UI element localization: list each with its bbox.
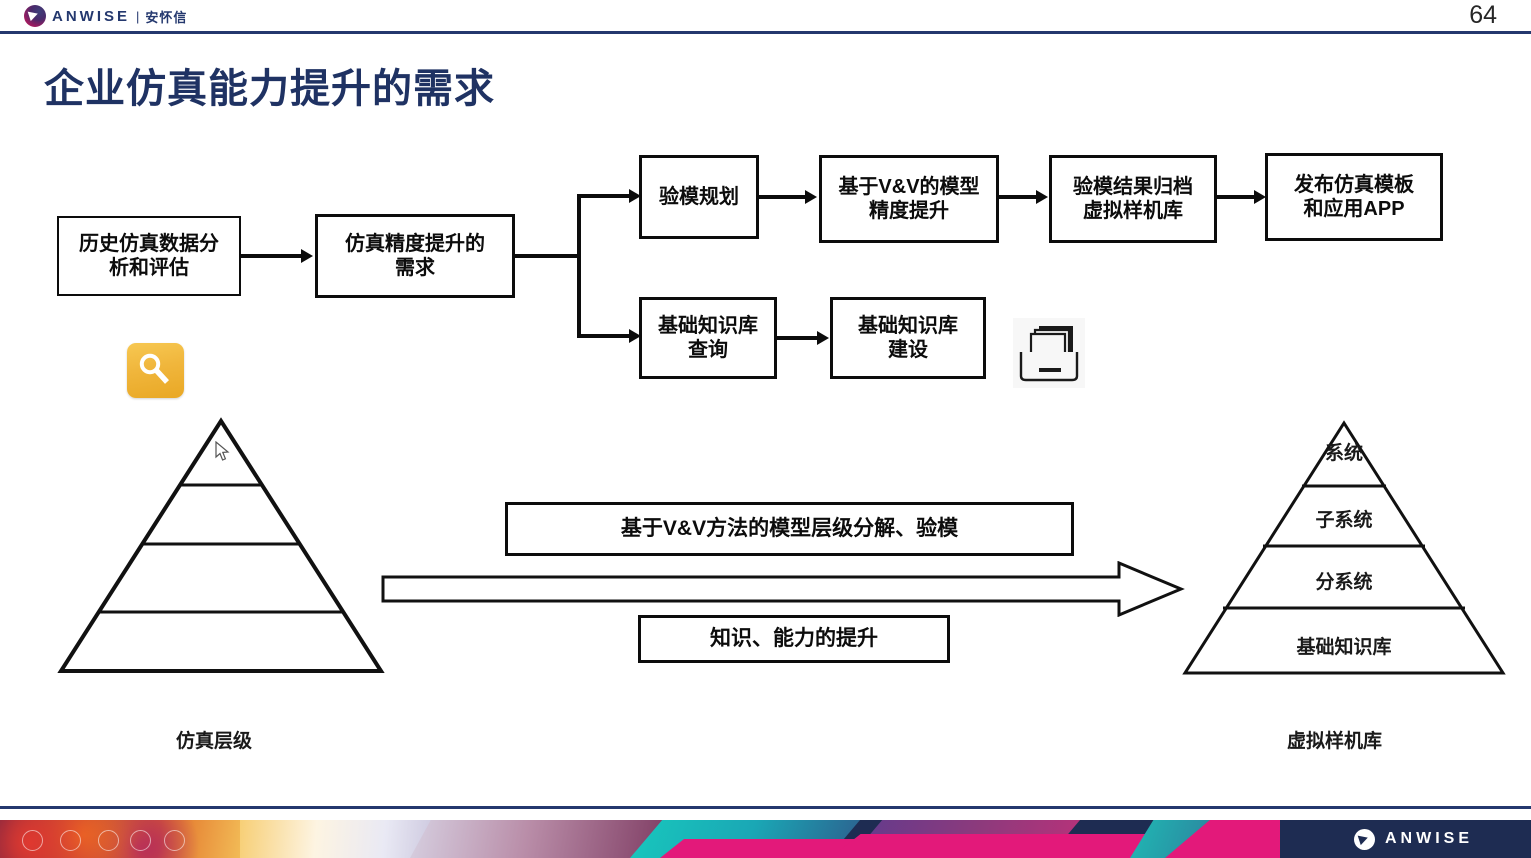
footer-icon-circle-5	[164, 830, 185, 851]
flow-box-knowledge-build[interactable]: 基础知识库 建设	[830, 297, 986, 379]
connector-demand-trunk	[515, 254, 579, 258]
connector-planning-to-vv	[759, 195, 805, 199]
pyramid-right-tier-system: 系统	[1294, 438, 1394, 465]
middle-box-knowledge-capability[interactable]: 知识、能力的提升	[638, 615, 950, 663]
brand-logo-separator: |	[136, 9, 139, 24]
page-number: 64	[1469, 1, 1497, 30]
flow-box-validation-planning[interactable]: 验模规划	[639, 155, 759, 239]
header-divider	[0, 31, 1531, 34]
connector-to-knowledge-query	[577, 334, 629, 338]
footer-decoration-magenta-b	[830, 834, 1170, 858]
search-icon-badge[interactable]	[127, 343, 184, 398]
connector-query-to-build	[777, 336, 817, 340]
connector-vv-to-archive	[999, 195, 1036, 199]
pyramid-left-caption: 仿真层级	[176, 726, 252, 753]
flow-box-vv-model-accuracy[interactable]: 基于V&V的模型 精度提升	[819, 155, 999, 243]
pyramid-right-caption: 虚拟样机库	[1287, 726, 1382, 753]
connector-history-to-demand	[241, 254, 301, 258]
footer-icon-circle-3	[98, 830, 119, 851]
search-icon	[137, 352, 174, 389]
middle-box-vv-decomposition[interactable]: 基于V&V方法的模型层级分解、验模	[505, 502, 1074, 556]
footer-divider	[0, 806, 1531, 809]
footer-decoration-hex-a	[410, 820, 670, 858]
file-tray-icon	[1013, 318, 1085, 393]
footer-brand-wordmark: ANWISE	[1385, 830, 1473, 848]
mouse-cursor-icon	[215, 441, 231, 468]
footer-icon-circle-2	[60, 830, 81, 851]
anwise-logo-icon	[24, 5, 46, 27]
flow-box-publish-template-app[interactable]: 发布仿真模板 和应用APP	[1265, 153, 1443, 241]
arrowhead-icon	[805, 190, 817, 204]
pyramid-right-tier-branch-system: 分系统	[1294, 567, 1394, 594]
arrowhead-icon	[817, 331, 829, 345]
page-title: 企业仿真能力提升的需求	[44, 56, 495, 114]
brand-logo: ANWISE | 安怀信	[24, 4, 187, 28]
flow-box-accuracy-demand[interactable]: 仿真精度提升的 需求	[315, 214, 515, 298]
footer-decoration-midleft	[240, 820, 440, 858]
pyramid-right-tier-knowledge-base: 基础知识库	[1274, 632, 1414, 659]
footer-bar: ANWISE	[0, 820, 1531, 858]
footer-icon-circle-4	[130, 830, 151, 851]
top-bar: ANWISE | 安怀信 64	[0, 0, 1531, 31]
footer-icon-circle-1	[22, 830, 43, 851]
anwise-footer-logo-icon	[1354, 829, 1375, 850]
pyramid-right-tier-subsystem: 子系统	[1294, 505, 1394, 532]
connector-demand-split	[577, 196, 581, 336]
flow-box-archive-library[interactable]: 验模结果归档 虚拟样机库	[1049, 155, 1217, 243]
footer-brand-logo: ANWISE	[1354, 828, 1473, 850]
arrowhead-icon	[301, 249, 313, 263]
brand-logo-wordmark: ANWISE	[52, 8, 130, 25]
connector-to-validation-planning	[577, 194, 629, 198]
flow-box-history-analysis[interactable]: 历史仿真数据分 析和评估	[57, 216, 241, 296]
right-block-arrow-icon	[381, 561, 1185, 622]
brand-logo-chinese-name: 安怀信	[145, 7, 187, 26]
arrowhead-icon	[1036, 190, 1048, 204]
flow-box-knowledge-query[interactable]: 基础知识库 查询	[639, 297, 777, 379]
